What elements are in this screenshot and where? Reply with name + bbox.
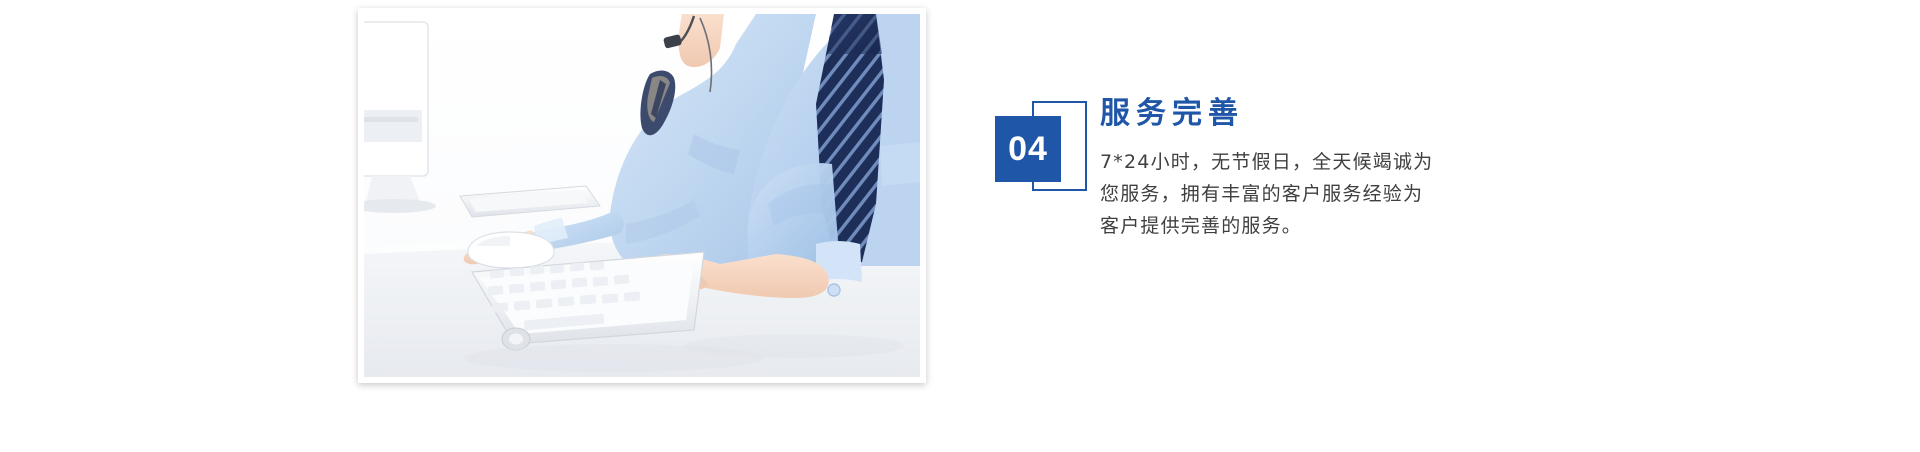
feature-photo-frame xyxy=(358,8,926,383)
feature-banner: 04 服务完善 7*24小时，无节假日，全天候竭诚为 您服务，拥有丰富的客户服务… xyxy=(0,0,1920,452)
mouse-shape xyxy=(468,232,554,268)
badge-solid-square: 04 xyxy=(995,116,1061,182)
feature-title: 服务完善 xyxy=(1100,96,1530,132)
badge-number-text: 04 xyxy=(995,116,1061,182)
feature-photo xyxy=(364,14,920,377)
feature-text-column: 服务完善 7*24小时，无节假日，全天候竭诚为 您服务，拥有丰富的客户服务经验为… xyxy=(1100,96,1530,242)
feature-description-line-2: 您服务，拥有丰富的客户服务经验为 xyxy=(1100,178,1530,210)
feature-number-badge: 04 xyxy=(995,101,1095,197)
office-workers-photo-illustration xyxy=(364,14,920,377)
feature-description: 7*24小时，无节假日，全天候竭诚为 您服务，拥有丰富的客户服务经验为 客户提供… xyxy=(1100,146,1530,242)
feature-description-line-3: 客户提供完善的服务。 xyxy=(1100,210,1530,242)
feature-description-line-1: 7*24小时，无节假日，全天候竭诚为 xyxy=(1100,146,1530,178)
feature-content: 04 服务完善 7*24小时，无节假日，全天候竭诚为 您服务，拥有丰富的客户服务… xyxy=(995,96,1635,286)
